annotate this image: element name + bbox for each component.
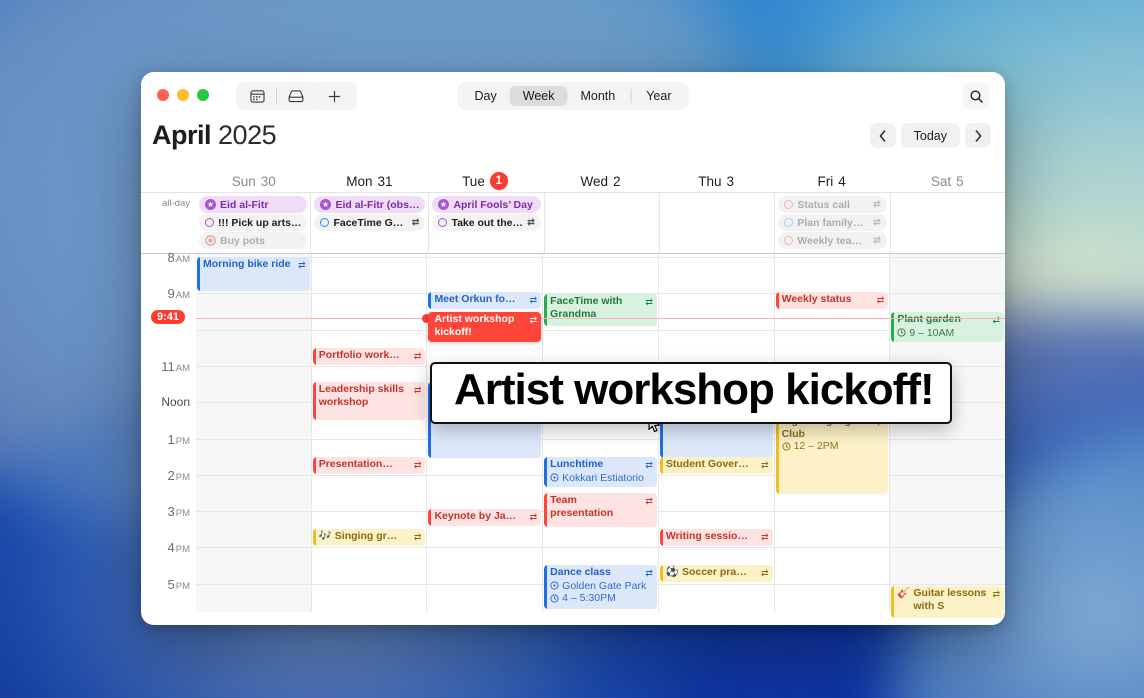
hour-gridline (427, 475, 542, 476)
event-title: Guitar lessons with S (913, 587, 989, 612)
repeat-icon: ⇄ (761, 531, 769, 544)
tab-month[interactable]: Month (567, 86, 628, 107)
event-title: Plant garden (897, 313, 989, 326)
day-header-fri[interactable]: Fri4 (774, 170, 890, 192)
day-columns[interactable]: Morning bike ride⇄Portfolio work…⇄Leader… (196, 254, 1005, 612)
calendar-event[interactable]: 🎸Guitar lessons with S⇄ (891, 586, 1004, 618)
hour-gridline (196, 511, 311, 512)
all-day-event-title: Status call (797, 199, 869, 211)
all-day-event[interactable]: Eid al-Fitr (obs… (314, 196, 425, 213)
title-year: 2025 (218, 120, 276, 150)
tab-day[interactable]: Day (462, 86, 510, 107)
event-title: Presentation… (319, 458, 411, 471)
all-day-event[interactable]: Weekly tea…⇄ (778, 232, 886, 249)
reminder-circle-icon (205, 218, 214, 227)
time-tick-suffix: PM (176, 436, 190, 447)
hour-gridline (312, 511, 427, 512)
time-tick: 5PM (168, 577, 190, 592)
all-day-event[interactable]: !!! Pick up arts… (199, 214, 307, 231)
event-title: Student Gover… (666, 458, 758, 471)
day-header-tue[interactable]: Tue1 (427, 170, 543, 192)
event-title-row: Weekly status⇄ (782, 293, 885, 307)
event-title-row: Plant garden⇄ (897, 313, 1000, 327)
event-title: Artist workshop kickoff! (434, 313, 526, 338)
event-title: FaceTime with Grandma (550, 295, 642, 320)
event-subtitle: Kokkari Estiatorio (550, 472, 653, 485)
event-title: Portfolio work… (319, 349, 411, 362)
time-tick-suffix: PM (176, 508, 190, 519)
repeat-icon: ⇄ (412, 217, 420, 228)
calendar-event[interactable]: 🎶Singing gr…⇄ (313, 529, 426, 546)
event-subtitle-text: 12 – 2PM (794, 440, 839, 453)
day-header-number: 2 (613, 174, 621, 189)
day-header-thu[interactable]: Thu3 (658, 170, 774, 192)
day-header-number: 3 (726, 174, 734, 189)
hour-gridline (543, 257, 658, 258)
day-header-sun[interactable]: Sun30 (196, 170, 312, 192)
all-day-column[interactable]: April Fools’ DayTake out the…⇄ (428, 193, 543, 253)
search-icon[interactable] (962, 82, 990, 110)
calendar-event[interactable]: ⚽Soccer pra…⇄ (660, 565, 773, 582)
all-day-event-title: Take out the… (451, 217, 523, 229)
day-column-tue[interactable]: Meet Orkun fo…⇄Artist workshop kickoff!⇄… (426, 254, 542, 612)
event-title: Meet Orkun fo… (434, 293, 526, 306)
calendar-event[interactable]: FaceTime with Grandma⇄ (544, 294, 657, 326)
event-title: Leadership skills workshop (319, 383, 411, 408)
event-subtitle-text: Golden Gate Park (562, 580, 646, 593)
day-header-number: 31 (377, 174, 392, 189)
event-title-row: Dance class⇄ (550, 566, 653, 580)
hour-gridline (659, 475, 774, 476)
day-column-sat[interactable]: Plant garden⇄9 – 10AM🎸Guitar lessons wit… (889, 254, 1005, 612)
calendar-event[interactable]: Weekly status⇄ (776, 292, 889, 309)
all-day-section: all-day Eid al-Fitr!!! Pick up arts…Buy … (141, 192, 1005, 254)
hour-gridline (196, 330, 311, 331)
repeat-icon: ⇄ (414, 384, 422, 397)
event-title: Team presentation (550, 494, 642, 519)
hour-gridline (775, 330, 890, 331)
event-title-row: Student Gover…⇄ (666, 458, 769, 472)
event-title-row: Morning bike ride⇄ (203, 258, 306, 272)
calendar-event[interactable]: Plant garden⇄9 – 10AM (891, 312, 1004, 342)
repeat-icon: ⇄ (873, 199, 881, 210)
hour-gridline (543, 439, 658, 440)
all-day-event[interactable]: Take out the…⇄ (432, 214, 540, 231)
hour-gridline (196, 475, 311, 476)
event-title: Soccer pra… (682, 566, 758, 579)
hour-gridline (775, 584, 890, 585)
all-day-event-title: Weekly tea… (797, 235, 869, 247)
event-subtitle-text: 9 – 10AM (909, 327, 954, 340)
reminder-circle-icon (784, 236, 793, 245)
time-tick-label: 3 (168, 504, 175, 519)
day-header-number: 5 (956, 174, 964, 189)
day-header-name: Sun (232, 174, 256, 189)
time-tick-suffix: PM (176, 544, 190, 555)
day-header-name: Sat (931, 174, 951, 189)
time-tick: 3PM (168, 504, 190, 519)
all-day-event-title: FaceTime G… (333, 217, 407, 229)
all-day-column[interactable]: Eid al-Fitr (obs…FaceTime G…⇄ (310, 193, 428, 253)
hour-gridline (312, 439, 427, 440)
hour-gridline (196, 402, 311, 403)
time-tick-label: 4 (168, 540, 175, 555)
event-title: Morning bike ride (203, 258, 295, 271)
day-header-number: 30 (261, 174, 276, 189)
calendar-event[interactable]: Leadership skills workshop⇄ (313, 382, 426, 420)
day-header-wed[interactable]: Wed2 (543, 170, 659, 192)
traffic-light-group (157, 89, 209, 101)
event-title: Weekly status (782, 293, 874, 306)
day-column-mon[interactable]: Portfolio work…⇄Leadership skills worksh… (311, 254, 427, 612)
hour-gridline (659, 547, 774, 548)
time-tick: 11AM (161, 359, 190, 374)
event-title-row: Presentation…⇄ (319, 458, 422, 472)
event-title-row: FaceTime with Grandma⇄ (550, 295, 653, 320)
time-tick: 1PM (168, 432, 190, 447)
clock-icon (550, 594, 559, 603)
repeat-icon: ⇄ (645, 495, 653, 508)
event-subtitle: 12 – 2PM (782, 440, 885, 453)
all-day-event-title: Eid al-Fitr (obs… (335, 199, 419, 211)
close-button[interactable] (157, 89, 169, 101)
time-tick: 2PM (168, 468, 190, 483)
calendar-event[interactable]: Writing sessio…⇄ (660, 529, 773, 546)
time-axis: 8AM9AM11AMNoon1PM2PM3PM4PM5PM9:41 (141, 254, 196, 612)
time-tick-suffix: PM (176, 472, 190, 483)
all-day-column[interactable] (659, 193, 774, 253)
event-title-row: Artist workshop kickoff!⇄ (434, 313, 537, 338)
repeat-icon: ⇄ (414, 459, 422, 472)
hour-gridline (312, 547, 427, 548)
inbox-icon[interactable] (283, 85, 309, 107)
hour-gridline (890, 547, 1005, 548)
hour-gridline (659, 584, 774, 585)
day-header-name: Tue (462, 174, 485, 189)
window-header: April 2025 Today (141, 120, 1005, 170)
hour-gridline (312, 330, 427, 331)
hour-gridline (775, 257, 890, 258)
event-subtitle-text: Kokkari Estiatorio (562, 472, 644, 485)
repeat-icon: ⇄ (414, 350, 422, 363)
all-day-column[interactable] (544, 193, 659, 253)
all-day-column[interactable] (890, 193, 1005, 253)
event-title-row: Meet Orkun fo…⇄ (434, 293, 537, 307)
all-day-event[interactable]: April Fools’ Day (432, 196, 540, 213)
hour-gridline (427, 547, 542, 548)
zoom-button[interactable] (197, 89, 209, 101)
clock-icon (897, 328, 906, 337)
time-tick-label: 1 (168, 432, 175, 447)
event-title: Dance class (550, 566, 642, 579)
time-tick-label: 5 (168, 577, 175, 592)
date-navigation: Today (870, 123, 991, 148)
toolbar-add-group (311, 82, 357, 110)
all-day-event-title: Plan family… (797, 217, 869, 229)
repeat-icon: ⇄ (645, 459, 653, 472)
event-title: Singing gr… (335, 530, 411, 543)
event-title-row: 🎶Singing gr…⇄ (319, 530, 422, 544)
repeat-icon: ⇄ (530, 314, 538, 327)
calendar-event[interactable]: Dance class⇄Golden Gate Park4 – 5:30PM (544, 565, 657, 609)
today-badge: 1 (490, 172, 508, 190)
all-day-event-title: Buy pots (220, 235, 301, 247)
time-tick: Noon (161, 395, 190, 409)
event-emoji-icon: 🎸 (897, 587, 910, 600)
time-tick-label: 9 (168, 286, 175, 301)
hour-gridline (890, 293, 1005, 294)
time-tick: 4PM (168, 540, 190, 555)
plus-icon[interactable] (321, 85, 347, 107)
event-title: Keynote by Ja… (434, 510, 526, 523)
reminder-circle-icon (784, 218, 793, 227)
current-time-pill: 9:41 (151, 310, 185, 324)
event-title: Writing sessio… (666, 530, 758, 543)
time-tick-label: Noon (161, 395, 190, 409)
hour-gridline (890, 511, 1005, 512)
event-title-row: Portfolio work…⇄ (319, 349, 422, 363)
tab-year[interactable]: Year (633, 86, 684, 107)
time-grid[interactable]: 8AM9AM11AMNoon1PM2PM3PM4PM5PM9:41 Mornin… (141, 254, 1005, 612)
day-header-row: Sun30Mon31Tue1Wed2Thu3Fri4Sat5 (141, 170, 1005, 192)
repeat-icon: ⇄ (761, 567, 769, 580)
all-day-event-title: !!! Pick up arts… (218, 217, 301, 229)
calendar-event[interactable]: Team presentation⇄ (544, 493, 657, 527)
hour-gridline (312, 475, 427, 476)
day-column-thu[interactable]: 11AM – 1PMStudent Gover…⇄Writing sessio…… (658, 254, 774, 612)
location-icon (550, 581, 559, 590)
repeat-icon: ⇄ (877, 294, 885, 307)
all-day-event[interactable]: Plan family…⇄ (778, 214, 886, 231)
holiday-star-icon (438, 199, 449, 210)
repeat-icon: ⇄ (873, 217, 881, 228)
day-header-name: Thu (698, 174, 721, 189)
repeat-icon: ⇄ (527, 217, 535, 228)
all-day-column[interactable]: Status call⇄Plan family…⇄Weekly tea…⇄ (774, 193, 889, 253)
all-day-event[interactable]: FaceTime G…⇄ (314, 214, 425, 231)
day-header-number: 4 (838, 174, 846, 189)
hour-gridline (890, 584, 1005, 585)
event-title-row: Lunchtime⇄ (550, 458, 653, 472)
prev-week-button[interactable] (870, 123, 896, 148)
repeat-icon: ⇄ (530, 511, 538, 524)
time-tick-label: 11 (161, 359, 175, 374)
hour-gridline (543, 547, 658, 548)
event-title-row: ⚽Soccer pra…⇄ (666, 566, 769, 580)
hour-gridline (196, 584, 311, 585)
hour-gridline (427, 257, 542, 258)
toolbar-view-group (236, 82, 317, 110)
tab-week[interactable]: Week (510, 86, 568, 107)
repeat-icon: ⇄ (645, 567, 653, 580)
minimize-button[interactable] (177, 89, 189, 101)
calendar-window: Day Week Month Year April 2025 Today (141, 72, 1005, 625)
event-title-row: Team presentation⇄ (550, 494, 653, 519)
event-emoji-icon: ⚽ (666, 566, 679, 579)
completed-dot-icon (205, 235, 216, 246)
holiday-star-icon (205, 199, 216, 210)
reminder-circle-icon (438, 218, 447, 227)
calendar-event[interactable]: Portfolio work…⇄ (313, 348, 426, 365)
hour-gridline (659, 330, 774, 331)
all-day-columns: Eid al-Fitr!!! Pick up arts…Buy potsEid … (196, 193, 1005, 253)
event-title-row: Leadership skills workshop⇄ (319, 383, 422, 408)
repeat-icon: ⇄ (414, 531, 422, 544)
event-title-row: Writing sessio…⇄ (666, 530, 769, 544)
time-tick-suffix: AM (176, 254, 190, 265)
current-time-line (196, 318, 1005, 319)
hour-gridline (659, 293, 774, 294)
hour-gridline (312, 293, 427, 294)
time-tick-suffix: AM (176, 363, 190, 374)
hour-gridline (312, 366, 427, 367)
all-day-event-title: Eid al-Fitr (220, 199, 301, 211)
day-header-sat[interactable]: Sat5 (889, 170, 1005, 192)
time-tick-label: 2 (168, 468, 175, 483)
calendar-event[interactable]: Morning bike ride⇄ (197, 257, 310, 291)
hour-gridline (775, 547, 890, 548)
all-day-column[interactable]: Eid al-Fitr!!! Pick up arts…Buy pots (196, 193, 310, 253)
day-header-name: Mon (346, 174, 372, 189)
holiday-star-icon (320, 199, 331, 210)
day-header-mon[interactable]: Mon31 (312, 170, 428, 192)
hour-gridline (659, 257, 774, 258)
repeat-icon: ⇄ (530, 294, 538, 307)
day-column-wed[interactable]: FaceTime with Grandma⇄Lunchtime⇄Kokkari … (542, 254, 658, 612)
day-header-name: Wed (581, 174, 609, 189)
hour-gridline (196, 439, 311, 440)
hour-gridline (659, 511, 774, 512)
calendar-event[interactable]: Presentation…⇄ (313, 457, 426, 474)
hour-gridline (890, 439, 1005, 440)
hour-gridline (775, 511, 890, 512)
day-header-name: Fri (818, 174, 834, 189)
location-icon (550, 473, 559, 482)
calendar-event[interactable]: Keynote by Ja…⇄ (428, 509, 541, 526)
repeat-icon: ⇄ (992, 314, 1000, 327)
view-segmented-control[interactable]: Day Week Month Year (458, 82, 689, 110)
window-titlebar: Day Week Month Year (141, 72, 1005, 120)
time-tick: 8AM (168, 250, 190, 265)
hour-gridline (312, 584, 427, 585)
repeat-icon: ⇄ (992, 588, 1000, 601)
event-emoji-icon: 🎶 (319, 530, 332, 543)
next-week-button[interactable] (965, 123, 991, 148)
hour-gridline (196, 547, 311, 548)
all-day-event-title: April Fools’ Day (453, 199, 534, 211)
page-title: April 2025 (152, 120, 276, 151)
title-month: April (152, 120, 211, 150)
today-button[interactable]: Today (901, 123, 960, 148)
reminder-circle-icon (320, 218, 329, 227)
hour-gridline (543, 330, 658, 331)
event-title-callout: Artist workshop kickoff! (430, 362, 952, 424)
event-subtitle: Golden Gate Park (550, 580, 653, 593)
toolbar-divider (276, 88, 277, 104)
all-day-event[interactable]: Status call⇄ (778, 196, 886, 213)
repeat-icon: ⇄ (645, 296, 653, 309)
hour-gridline (196, 293, 311, 294)
calendar-icon[interactable] (244, 85, 270, 107)
time-tick-suffix: AM (176, 290, 190, 301)
event-title-row: Keynote by Ja…⇄ (434, 510, 537, 524)
day-column-sun[interactable]: Morning bike ride⇄ (196, 254, 311, 612)
calendar-event[interactable]: Sign Language Club⇄12 – 2PM (776, 414, 889, 494)
calendar-event[interactable]: Lunchtime⇄Kokkari Estiatorio (544, 457, 657, 487)
event-title: Lunchtime (550, 458, 642, 471)
all-day-label: all-day (141, 193, 196, 253)
hour-gridline (196, 366, 311, 367)
repeat-icon: ⇄ (761, 459, 769, 472)
hour-gridline (427, 584, 542, 585)
day-column-fri[interactable]: Weekly status⇄Sign Language Club⇄12 – 2P… (774, 254, 890, 612)
hour-gridline (312, 257, 427, 258)
time-tick-suffix: PM (176, 581, 190, 592)
event-title-row: 🎸Guitar lessons with S⇄ (897, 587, 1000, 612)
clock-icon (782, 442, 791, 451)
event-time-range: 4 – 5:30PM (550, 592, 653, 605)
segment-divider (630, 89, 631, 103)
repeat-icon: ⇄ (298, 259, 306, 272)
event-time-range-text: 4 – 5:30PM (562, 592, 616, 605)
all-day-event[interactable]: Eid al-Fitr (199, 196, 307, 213)
calendar-event[interactable]: Student Gover…⇄ (660, 457, 773, 474)
calendar-event[interactable]: Meet Orkun fo…⇄ (428, 292, 541, 309)
all-day-event[interactable]: Buy pots (199, 232, 307, 249)
hour-gridline (890, 257, 1005, 258)
reminder-circle-icon (784, 200, 793, 209)
time-tick-label: 8 (168, 250, 175, 265)
repeat-icon: ⇄ (873, 235, 881, 246)
hour-gridline (890, 475, 1005, 476)
calendar-event-selected[interactable]: Artist workshop kickoff!⇄ (428, 312, 541, 342)
time-tick: 9AM (168, 286, 190, 301)
event-subtitle: 9 – 10AM (897, 327, 1000, 340)
